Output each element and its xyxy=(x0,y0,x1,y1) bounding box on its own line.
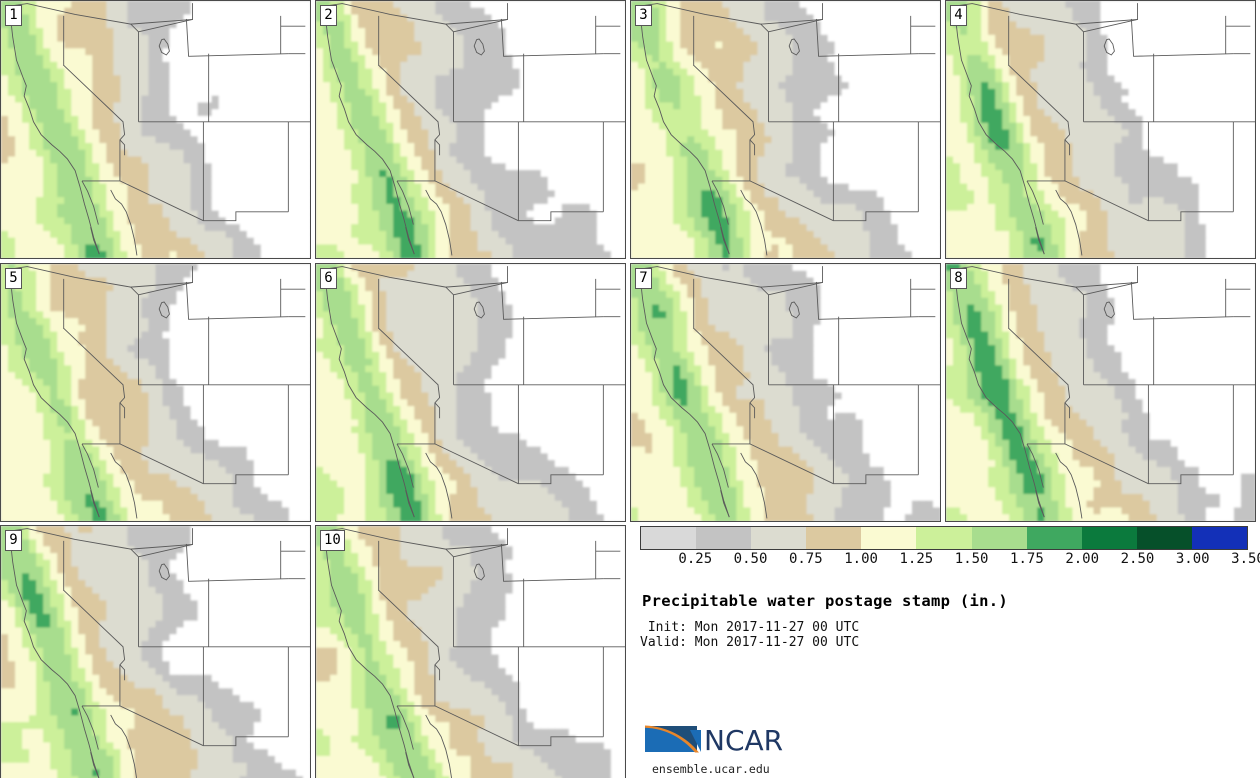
panel-number-label: 7 xyxy=(635,268,652,289)
colorbar-swatch xyxy=(916,527,971,549)
ncar-url-text: ensemble.ucar.edu xyxy=(652,762,770,776)
colorbar-swatch xyxy=(696,527,751,549)
colorbar xyxy=(640,526,1248,550)
colorbar-tick: 2.50 xyxy=(1121,551,1155,567)
colorbar-tick: 0.50 xyxy=(734,551,768,567)
ncar-logo-swoosh xyxy=(645,726,701,753)
ncar-logo: NCAR xyxy=(644,718,792,760)
panel-number-label: 1 xyxy=(5,5,22,26)
panel-number-label: 3 xyxy=(635,5,652,26)
colorbar-tick: 0.75 xyxy=(789,551,823,567)
colorbar-swatch xyxy=(806,527,861,549)
precip-water-field xyxy=(316,526,625,778)
colorbar-swatch xyxy=(751,527,806,549)
colorbar-tick: 1.50 xyxy=(955,551,989,567)
colorbar-tick: 3.00 xyxy=(1176,551,1210,567)
colorbar-tick: 1.75 xyxy=(1010,551,1044,567)
colorbar-swatch xyxy=(641,527,696,549)
postage-stamp-figure: 12345678910 0.250.500.751.001.251.501.75… xyxy=(0,0,1260,778)
page-title: Precipitable water postage stamp (in.) xyxy=(642,592,1008,610)
colorbar-swatch xyxy=(1192,527,1247,549)
colorbar-swatch xyxy=(1137,527,1192,549)
panel-number-label: 8 xyxy=(950,268,967,289)
colorbar-tick-labels: 0.250.500.751.001.251.501.752.002.503.00… xyxy=(640,551,1260,569)
precip-water-field xyxy=(946,264,1255,521)
panel-number-label: 10 xyxy=(320,530,345,551)
map-panel-member-9[interactable]: 9 xyxy=(0,525,311,778)
colorbar-tick: 1.25 xyxy=(900,551,934,567)
precip-water-field xyxy=(316,264,625,521)
colorbar-swatch xyxy=(972,527,1027,549)
colorbar-swatch xyxy=(861,527,916,549)
panel-number-label: 9 xyxy=(5,530,22,551)
panel-number-label: 4 xyxy=(950,5,967,26)
map-panel-member-2[interactable]: 2 xyxy=(315,0,626,259)
panel-number-label: 2 xyxy=(320,5,337,26)
colorbar-tick: 0.25 xyxy=(678,551,712,567)
precip-water-field xyxy=(631,264,940,521)
map-panel-member-1[interactable]: 1 xyxy=(0,0,311,259)
colorbar-tick: 3.50 xyxy=(1231,551,1260,567)
map-panel-member-7[interactable]: 7 xyxy=(630,263,941,522)
precip-water-field xyxy=(631,1,940,258)
map-panel-member-8[interactable]: 8 xyxy=(945,263,1256,522)
ncar-logo-text: NCAR xyxy=(704,724,783,757)
precip-water-field xyxy=(1,526,310,778)
colorbar-swatch xyxy=(1082,527,1137,549)
colorbar-swatch xyxy=(1027,527,1082,549)
map-panel-member-6[interactable]: 6 xyxy=(315,263,626,522)
valid-time-block: Init: Mon 2017-11-27 00 UTC Valid: Mon 2… xyxy=(640,620,859,650)
colorbar-tick: 1.00 xyxy=(844,551,878,567)
precip-water-field xyxy=(1,1,310,258)
map-panel-member-3[interactable]: 3 xyxy=(630,0,941,259)
map-panel-member-4[interactable]: 4 xyxy=(945,0,1256,259)
colorbar-tick: 2.00 xyxy=(1065,551,1099,567)
map-panel-member-10[interactable]: 10 xyxy=(315,525,626,778)
panel-number-label: 5 xyxy=(5,268,22,289)
precip-water-field xyxy=(316,1,625,258)
panel-number-label: 6 xyxy=(320,268,337,289)
precip-water-field xyxy=(1,264,310,521)
precip-water-field xyxy=(946,1,1255,258)
map-panel-member-5[interactable]: 5 xyxy=(0,263,311,522)
